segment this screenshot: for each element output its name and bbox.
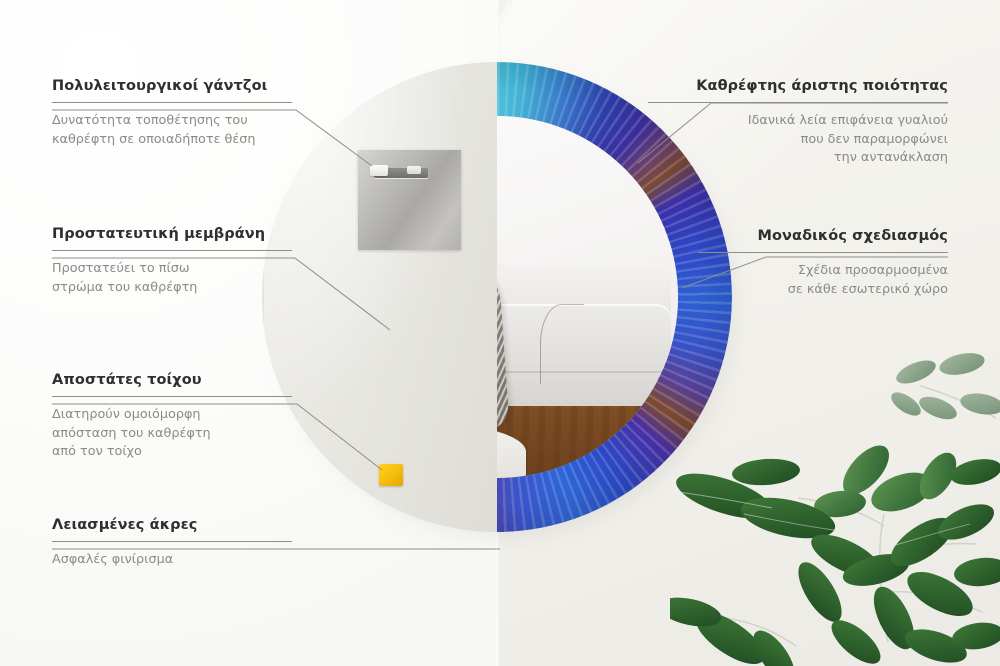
callout-title: Αποστάτες τοίχου (52, 372, 292, 388)
callout-title: Πολυλειτουργικοί γάντζοι (52, 78, 292, 94)
callout-description: Ασφαλές φινίρισμα (52, 551, 292, 570)
mirror-back-edge (262, 62, 497, 532)
hook-slot-cap-left (370, 165, 388, 176)
infographic-canvas: Πολυλειτουργικοί γάντζοι Δυνατότητα τοπο… (0, 0, 1000, 666)
callout-rule (52, 102, 292, 103)
decorative-foliage (670, 346, 1000, 666)
hook-mounting-plate (358, 150, 461, 250)
reflected-glare (497, 116, 678, 478)
callout-top-quality-mirror: Καθρέφτης άριστης ποιότητας Ιδανικά λεία… (648, 78, 948, 168)
callout-title: Μοναδικός σχεδιασμός (698, 228, 948, 244)
callout-rule (52, 250, 292, 251)
callout-rule (52, 541, 292, 542)
callout-description: Διατηρούν ομοιόμορφη απόσταση του καθρέφ… (52, 406, 292, 462)
callout-rule (52, 396, 292, 397)
callout-description: Ιδανικά λεία επιφάνεια γυαλιού που δεν π… (648, 112, 948, 168)
callout-unique-design: Μοναδικός σχεδιασμός Σχέδια προσαρμοσμέν… (698, 228, 948, 299)
callout-title: Λειασμένες άκρες (52, 517, 292, 533)
callout-description: Προστατεύει το πίσω στρώμα του καθρέφτη (52, 260, 292, 297)
callout-description: Σχέδια προσαρμοσμένα σε κάθε εσωτερικό χ… (698, 262, 948, 299)
callout-smoothed-edges: Λειασμένες άκρες Ασφαλές φινίρισμα (52, 517, 292, 570)
yellow-wall-spacer (379, 464, 403, 486)
callout-rule (698, 252, 948, 253)
foliage-branch-icon (670, 346, 1000, 666)
hook-slot-cap-right (407, 166, 421, 174)
mirror-reflection (497, 116, 678, 478)
callout-description: Δυνατότητα τοποθέτησης του καθρέφτη σε ο… (52, 112, 292, 149)
callout-title: Προστατευτική μεμβράνη (52, 226, 292, 242)
callout-multifunctional-hooks: Πολυλειτουργικοί γάντζοι Δυνατότητα τοπο… (52, 78, 292, 149)
callout-title: Καθρέφτης άριστης ποιότητας (648, 78, 948, 94)
callout-protective-membrane: Προστατευτική μεμβράνη Προστατεύει το πί… (52, 226, 292, 297)
callout-wall-spacers: Αποστάτες τοίχου Διατηρούν ομοιόμορφη απ… (52, 372, 292, 462)
callout-rule (648, 102, 948, 103)
